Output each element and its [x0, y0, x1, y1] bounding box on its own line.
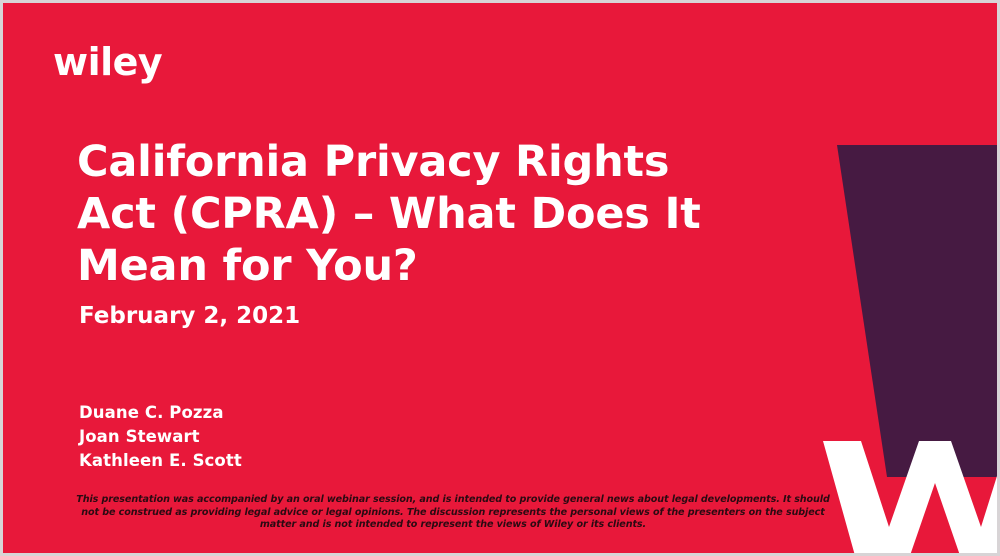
title-line-2: Act (CPRA) – What Does It [77, 189, 701, 239]
list-item: Duane C. Pozza [79, 401, 242, 425]
list-item: Joan Stewart [79, 425, 242, 449]
title-block: California Privacy Rights Act (CPRA) – W… [77, 136, 817, 292]
title-line-1: California Privacy Rights [77, 137, 669, 187]
slide-canvas: wiley California Privacy Rights Act (CPR… [3, 3, 997, 553]
presentation-slide: wiley California Privacy Rights Act (CPR… [0, 0, 1000, 556]
title-line-3: Mean for You? [77, 241, 418, 291]
presenter-list: Duane C. Pozza Joan Stewart Kathleen E. … [79, 401, 242, 473]
legal-disclaimer: This presentation was accompanied by an … [73, 494, 833, 532]
disclaimer-line-1: This presentation was accompanied by an … [76, 494, 697, 505]
list-item: Kathleen E. Scott [79, 449, 242, 473]
presentation-date: February 2, 2021 [79, 303, 300, 329]
page-title: California Privacy Rights Act (CPRA) – W… [77, 136, 817, 292]
wiley-logo: wiley [53, 43, 162, 81]
purple-wedge-decoration [829, 145, 997, 477]
